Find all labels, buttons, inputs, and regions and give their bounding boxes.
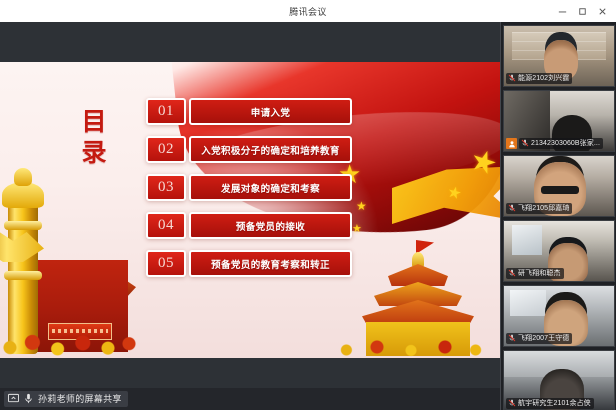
agenda-item: 03 发展对象的确定和考察 (146, 174, 352, 201)
agenda-item-number: 05 (146, 250, 186, 277)
participant-nameplate: 航宇研究生2101余占侠 (506, 398, 594, 409)
presentation-slide: ★ ★ ★ ★ ★ (0, 62, 500, 358)
participant-tile[interactable]: 飞翔2007王守德 (503, 285, 615, 347)
microphone-muted-icon (508, 204, 516, 212)
participant-tile[interactable]: 研飞翔和聪杰 (503, 220, 615, 282)
agenda-item-label: 入党积极分子的确定和培养教育 (189, 136, 352, 163)
microphone-muted-icon (508, 399, 516, 407)
screen-share-icon (8, 393, 19, 404)
huabiao-beast-graphic (14, 168, 32, 186)
shared-screen-stage[interactable]: ★ ★ ★ ★ ★ (0, 22, 500, 410)
close-button[interactable] (592, 1, 612, 21)
participant-tile[interactable]: 飞翔2105邱嘉琦 (503, 155, 615, 217)
agenda-item-label: 申请入党 (189, 98, 352, 125)
flag-star-small-icon: ★ (356, 200, 367, 212)
microphone-icon (23, 393, 34, 404)
agenda-item: 04 预备党员的接收 (146, 212, 352, 239)
participants-sidebar[interactable]: 能源2102刘兴霆 21342303060B张家... (500, 22, 616, 410)
agenda-item: 02 入党积极分子的确定和培养教育 (146, 136, 352, 163)
flower-bed-graphic (0, 332, 136, 358)
participant-name: 21342303060B张家... (531, 139, 600, 148)
share-status-text: 孙莉老师的屏幕共享 (38, 392, 122, 405)
agenda-item-label: 预备党员的教育考察和转正 (189, 250, 352, 277)
participant-nameplate: 21342303060B张家... (519, 138, 603, 149)
agenda-item-number: 03 (146, 174, 186, 201)
participant-nameplate: 研飞翔和聪杰 (506, 268, 564, 279)
participant-nameplate: 飞翔2105邱嘉琦 (506, 203, 572, 214)
microphone-muted-icon (508, 334, 516, 342)
microphone-muted-icon (521, 139, 529, 147)
tiananmen-scene-graphic (0, 168, 126, 358)
agenda-list: 01 申请入党 02 入党积极分子的确定和培养教育 03 发展对象的确定和考察 … (146, 98, 352, 288)
participant-nameplate: 能源2102刘兴霆 (506, 73, 572, 84)
participant-nameplate: 飞翔2007王守德 (506, 333, 572, 344)
agenda-item-number: 01 (146, 98, 186, 125)
agenda-item: 01 申请入党 (146, 98, 352, 125)
agenda-item-number: 02 (146, 136, 186, 163)
share-status-chip[interactable]: 孙莉老师的屏幕共享 (4, 391, 128, 407)
window-controls (552, 0, 612, 22)
slide-heading: 目录 (72, 106, 118, 169)
flower-bed-graphic (326, 338, 496, 358)
participant-tile[interactable]: 能源2102刘兴霆 (503, 25, 615, 87)
agenda-item-number: 04 (146, 212, 186, 239)
title-bar: 腾讯会议 (0, 0, 616, 23)
tencent-meeting-window: 腾讯会议 ★ ★ ★ ★ ★ (0, 0, 616, 410)
host-badge-icon (506, 138, 517, 149)
window-title: 腾讯会议 (289, 5, 327, 18)
participant-tile[interactable]: 21342303060B张家... (503, 90, 615, 152)
share-status-bar: 孙莉老师的屏幕共享 (0, 388, 500, 410)
microphone-muted-icon (508, 74, 516, 82)
participant-name: 研飞翔和聪杰 (518, 269, 561, 278)
huabiao-ring-graphic (4, 271, 42, 280)
participant-name: 能源2102刘兴霆 (518, 74, 569, 83)
huabiao-column-graphic (8, 186, 38, 354)
participant-tile[interactable]: 航宇研究生2101余占侠 (503, 350, 615, 410)
participant-name: 航宇研究生2101余占侠 (518, 399, 591, 408)
microphone-muted-icon (508, 269, 516, 277)
temple-of-heaven-scene-graphic (346, 238, 496, 358)
agenda-item: 05 预备党员的教育考察和转正 (146, 250, 352, 277)
minimize-button[interactable] (552, 1, 572, 21)
agenda-item-label: 预备党员的接收 (189, 212, 352, 239)
participant-name: 飞翔2007王守德 (518, 334, 569, 343)
participant-name: 飞翔2105邱嘉琦 (518, 204, 569, 213)
huabiao-ring-graphic (4, 221, 42, 230)
flag-star-small-icon: ★ (352, 224, 362, 235)
maximize-button[interactable] (572, 1, 592, 21)
agenda-item-label: 发展对象的确定和考察 (189, 174, 352, 201)
